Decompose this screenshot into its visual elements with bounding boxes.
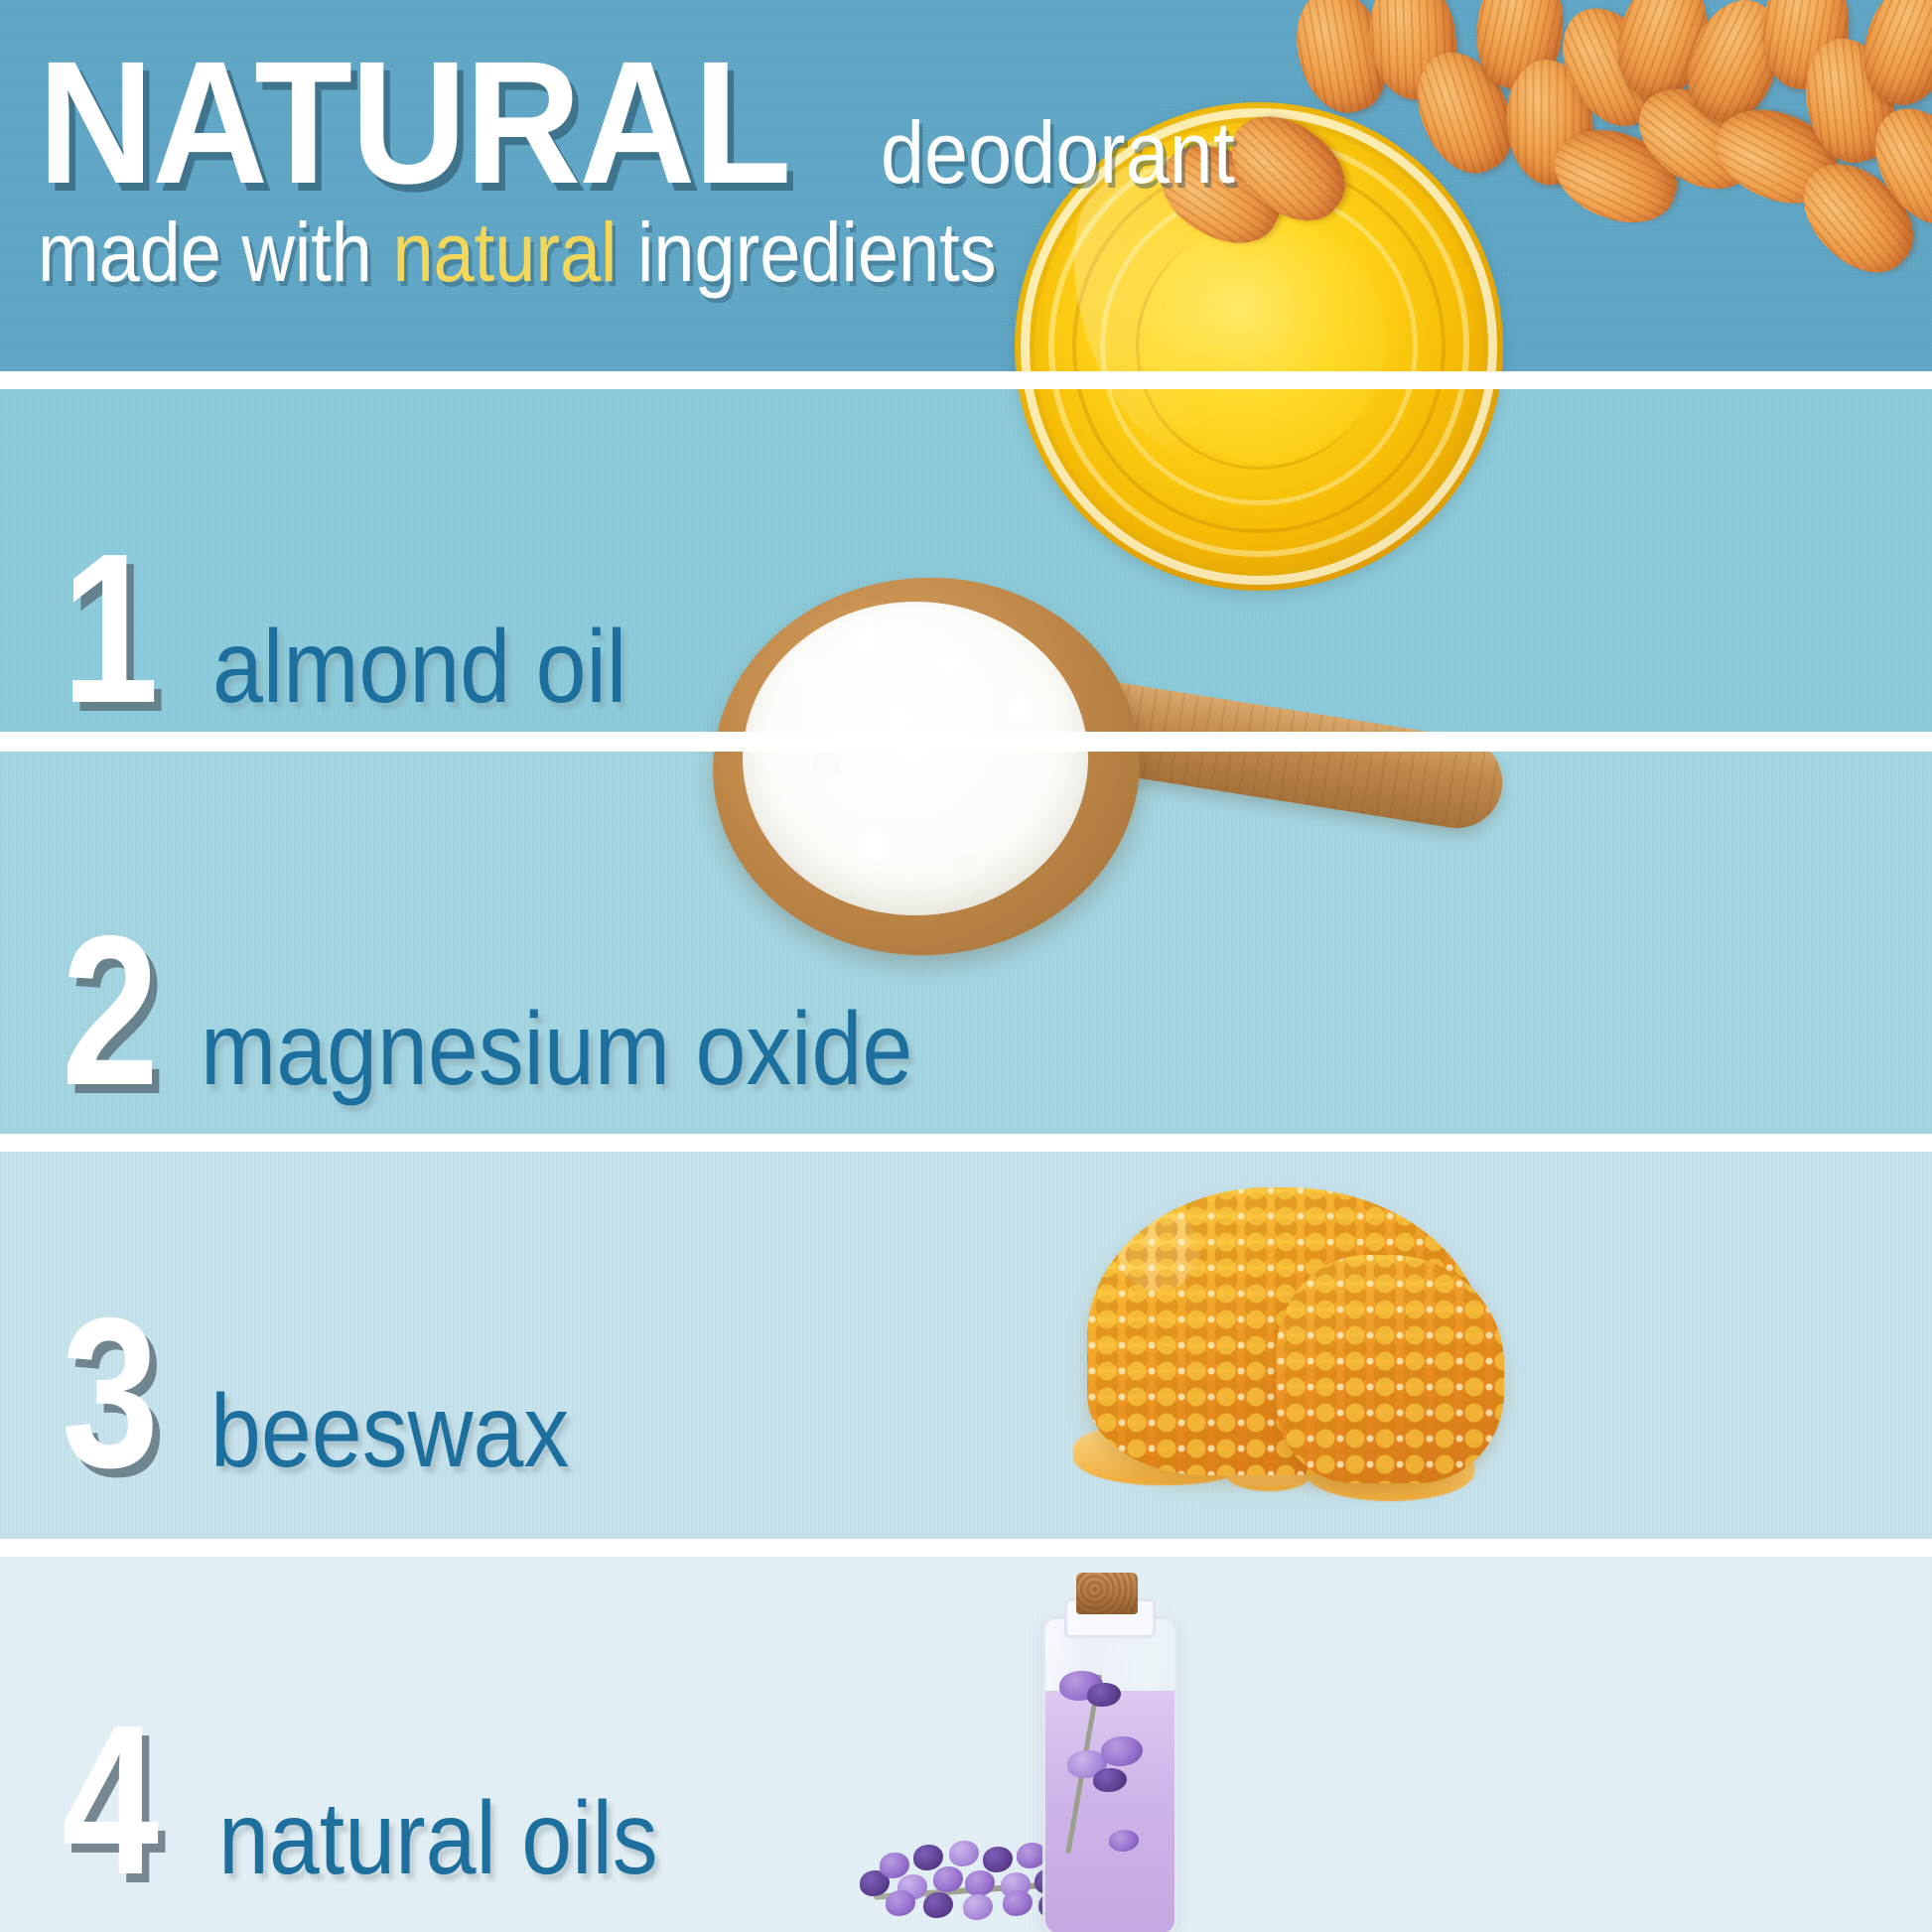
tagline-suffix: ingredients [617, 206, 996, 299]
ingredient-number-1: 1 [62, 521, 159, 735]
ingredient-label-3: beeswax [210, 1380, 569, 1483]
honeycomb-image [978, 1187, 1574, 1545]
cork-stopper [1076, 1573, 1138, 1614]
divider-3 [0, 1539, 1932, 1557]
tagline-prefix: made with [38, 206, 392, 299]
almonds-image [1172, 0, 1932, 282]
divider-1 [0, 732, 1932, 752]
ingredient-row-1: 1 almond oil [62, 521, 683, 735]
ingredient-row-3: 3 beeswax [62, 1286, 618, 1499]
ingredient-row-4: 4 natural oils [62, 1693, 718, 1906]
ingredient-row-2: 2 magnesium oxide [62, 903, 1010, 1117]
ingredient-label-4: natural oils [218, 1787, 658, 1890]
tagline-highlight: natural [392, 206, 617, 299]
poster-title: NATURALdeodorant [38, 36, 1275, 210]
ingredient-number-3: 3 [62, 1286, 159, 1499]
ingredient-number-4: 4 [62, 1693, 159, 1906]
divider-0 [0, 371, 1932, 389]
poster-tagline: made with natural ingredients [38, 210, 997, 294]
header-text-block: NATURALdeodorant made with natural ingre… [0, 0, 1191, 371]
lavender-oil-bottle-image [854, 1581, 1271, 1932]
ingredient-label-1: almond oil [212, 616, 626, 719]
infographic-poster: NATURALdeodorant made with natural ingre… [0, 0, 1932, 1932]
ingredient-label-2: magnesium oxide [201, 998, 912, 1101]
oil-bottle [1042, 1616, 1177, 1932]
divider-2 [0, 1134, 1932, 1152]
title-main: NATURAL [38, 36, 790, 210]
title-subtitle: deodorant [881, 109, 1235, 197]
ingredient-number-2: 2 [62, 903, 159, 1117]
